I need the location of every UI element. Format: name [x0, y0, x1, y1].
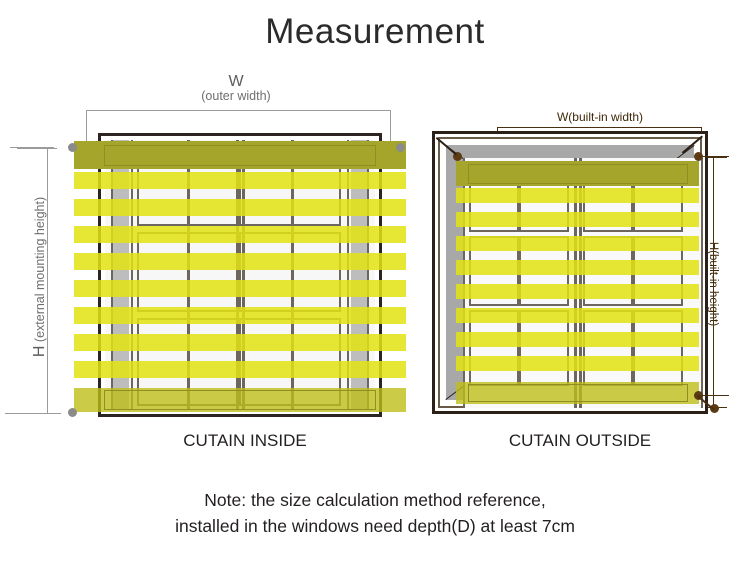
note-line-1: Note: the size calculation method refere…: [0, 487, 750, 513]
blind-slat: [74, 172, 406, 189]
built-in-leader-bottom: [699, 395, 729, 396]
width-label-outer: W (outer width): [176, 74, 296, 104]
measurement-diagram-canvas: Measurement W (outer width) H (external …: [0, 0, 750, 575]
blind-slat: [456, 236, 699, 251]
height-label-external: H (external mounting height): [31, 137, 49, 417]
note-line-2: installed in the windows need depth(D) a…: [0, 513, 750, 539]
height-description: (external mounting height): [33, 197, 47, 342]
blind-bottom-rail-bevel-right: [468, 384, 688, 402]
blind-slat: [74, 334, 406, 351]
blind-slat: [74, 307, 406, 324]
blind-slat: [74, 226, 406, 243]
note-block: Note: the size calculation method refere…: [0, 487, 750, 539]
marker-leader-bottom-left: [5, 413, 61, 414]
measure-dot-bottom-left: [68, 408, 77, 417]
measure-dot-top-right: [396, 143, 405, 152]
blind-bottom-rail-bevel: [104, 390, 376, 410]
blind-slat: [456, 188, 699, 203]
built-in-leader-top: [699, 156, 729, 157]
blind-slat: [74, 199, 406, 216]
blind-slat: [456, 284, 699, 299]
blind-slat: [456, 260, 699, 275]
blind-slat: [456, 332, 699, 347]
caption-right: CUTAIN OUTSIDE: [450, 431, 710, 451]
width-description: (outer width): [176, 89, 296, 104]
blind-slat: [456, 308, 699, 323]
blind-valance-bevel-right: [468, 164, 688, 184]
blind-slat: [74, 253, 406, 270]
blind-slat: [456, 356, 699, 371]
caption-left: CUTAIN INSIDE: [100, 431, 390, 451]
built-in-height-dimension-line: [713, 157, 714, 408]
jamb-line-right: [701, 158, 703, 408]
height-symbol: H: [31, 346, 48, 358]
built-in-width-dimension-line: [497, 127, 702, 128]
built-in-width-label: W(built-in width): [497, 110, 703, 124]
blind-slat: [456, 212, 699, 227]
width-symbol: W: [176, 74, 296, 89]
marker-leader-top-left: [10, 147, 54, 148]
measure-dot-top-left: [68, 143, 77, 152]
blind-slat: [74, 361, 406, 378]
blind-valance-bevel-left: [104, 145, 376, 166]
window-pane: [239, 232, 341, 312]
width-dimension-line-left: [86, 110, 391, 111]
blind-slat: [74, 280, 406, 297]
left-diagram-outside-mount: W (outer width) H (external mounting hei…: [0, 0, 420, 470]
